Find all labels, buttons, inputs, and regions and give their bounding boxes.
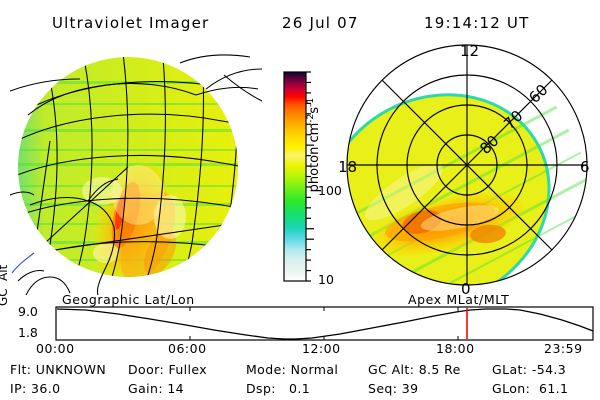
colorbar-axis-exp1: -2 [306,114,316,123]
time-tick-0600: 06:00 [168,341,207,356]
colorbar-gradient [284,72,306,281]
time-tick-1800: 18:00 [436,341,475,356]
alt-axis-title-line2: Alt [0,265,10,281]
status-panel: Flt: UNKNOWN Door: Fullex Mode: Normal G… [0,362,600,400]
status-ip: IP: 36.0 [10,381,60,396]
status-seq-value: 39 [402,381,419,396]
status-gc-alt: GC Alt: 8.5 Re [368,362,461,377]
status-glat-value: -54.3 [532,362,566,377]
status-door-value: Fullex [168,362,207,377]
time-axis-labels: 00:00 06:00 12:00 18:00 23:59 [0,341,600,359]
status-row-1: Flt: UNKNOWN Door: Fullex Mode: Normal G… [0,362,600,381]
time-tick-2359: 23:59 [544,341,583,356]
time-tick-1200: 12:00 [302,341,341,356]
status-flt: Flt: UNKNOWN [10,362,106,377]
observation-date: 26 Jul 07 [282,14,359,32]
altitude-timeline-panel[interactable]: GC Alt 9.0 1.8 [0,305,600,343]
status-glat-label: GLat: [492,362,527,377]
mlt-label-6: 6 [580,158,590,176]
status-glon-value: 61.1 [539,381,568,396]
status-glat: GLat: -54.3 [492,362,566,377]
observation-time: 19:14:12 UT [424,14,529,32]
status-gain-label: Gain: [128,381,163,396]
status-door: Door: Fullex [128,362,207,377]
colorbar-tick-10: 10 [318,272,334,287]
mlt-spokes [347,45,587,285]
apex-polar-panel[interactable]: 12 18 6 0 60 70 80 [340,42,596,296]
status-glon-label: GLon: [492,381,530,396]
status-door-label: Door: [128,362,164,377]
status-dsp: Dsp: 0.1 [246,381,310,396]
altitude-plot-frame [56,307,593,340]
alt-axis-title-line1: GC [0,288,10,306]
colorbar-panel: 100 10 photon cm-2s-1 [262,45,352,295]
mlt-label-18: 18 [340,158,357,176]
header-bar: Ultraviolet Imager 26 Jul 07 19:14:12 UT [0,6,600,32]
status-ip-label: IP: [10,381,27,396]
instrument-title: Ultraviolet Imager [52,14,209,32]
status-seq-label: Seq: [368,381,397,396]
status-mode: Mode: Normal [246,362,338,377]
colorbar-axis-label: photon cm-2s-1 [306,85,322,205]
status-flt-label: Flt: [10,362,31,377]
time-tick-0000: 00:00 [36,341,75,356]
status-dsp-value: 0.1 [289,381,310,396]
colorbar-axis-label-text: photon cm [307,123,322,193]
status-flt-value: UNKNOWN [36,362,106,377]
colorbar-axis-label-mid: s [307,107,322,114]
status-dsp-label: Dsp: [246,381,276,396]
status-ip-value: 36.0 [31,381,60,396]
status-seq: Seq: 39 [368,381,418,396]
status-glon: GLon: 61.1 [492,381,568,396]
status-gain-value: 14 [167,381,184,396]
colorbar-axis-exp2: -1 [306,98,316,107]
status-row-2: IP: 36.0 Gain: 14 Dsp: 0.1 Seq: 39 GLon:… [0,381,600,400]
polar-image-footprint [340,55,596,296]
status-gc-alt-value: 8.5 Re [419,362,461,377]
geographic-globe-panel[interactable] [10,45,265,295]
mlt-label-12: 12 [460,42,479,60]
status-gc-alt-label: GC Alt: [368,362,414,377]
terminator-line [12,253,34,273]
status-mode-value: Normal [291,362,339,377]
status-mode-label: Mode: [246,362,286,377]
status-gain: Gain: 14 [128,381,184,396]
